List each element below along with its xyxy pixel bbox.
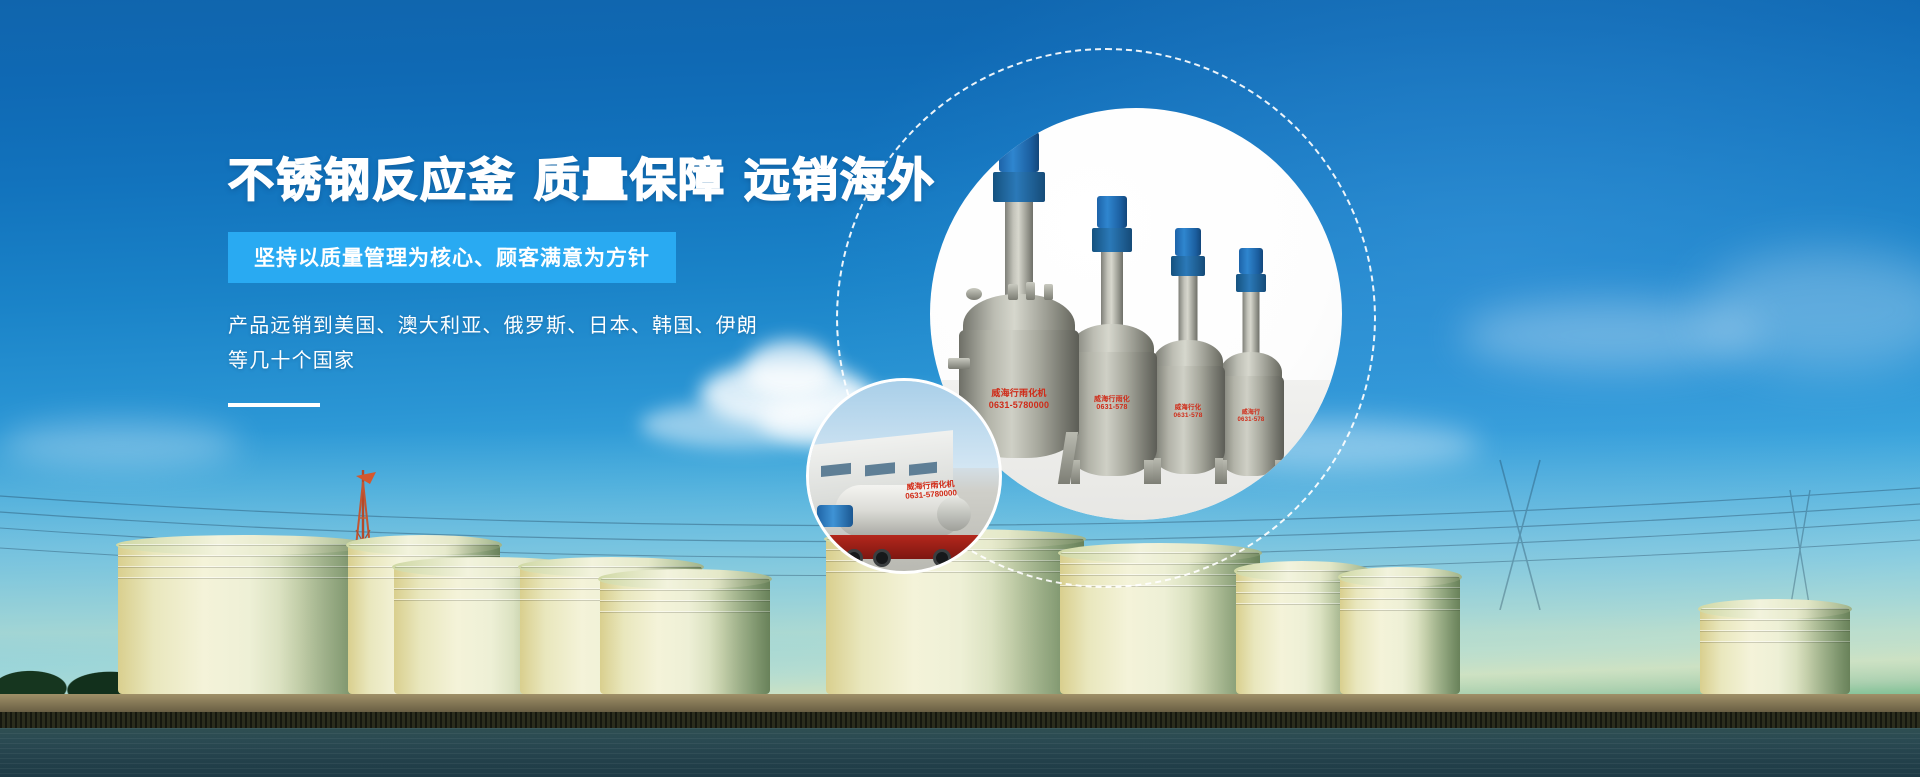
vessel-motor — [817, 505, 853, 527]
hero-banner: 威海行 0631-578 威海行化 0631-578 — [0, 0, 1920, 777]
trailer-wheel — [933, 549, 951, 567]
trailer-wheel — [961, 549, 979, 567]
reactor-brand-line2: 0631-578 — [1173, 412, 1202, 420]
banner-copy: 不锈钢反应釜 质量保障 远销海外 坚持以质量管理为核心、顾客满意为方针 产品远销… — [228, 155, 988, 407]
headline: 不锈钢反应釜 质量保障 远销海外 — [228, 155, 988, 206]
reactor-brand-line1: 威海行雨化 — [1094, 396, 1130, 404]
storage-tank — [1700, 608, 1850, 694]
description-line-2: 等几十个国家 — [228, 344, 988, 379]
reactor-brand-line2: 0631-578 — [1238, 417, 1265, 424]
divider-rule — [228, 403, 320, 407]
factory-image-circle: 威海行雨化机 0631-5780000 — [806, 378, 1002, 574]
storage-tank — [118, 544, 370, 694]
vessel-head — [937, 497, 971, 531]
storage-tank — [600, 578, 770, 694]
water — [0, 728, 1920, 777]
trailer-wheel — [873, 549, 891, 567]
subtitle-highlight-bar: 坚持以质量管理为核心、顾客满意为方针 — [228, 232, 676, 283]
description-line-1: 产品远销到美国、澳大利亚、俄罗斯、日本、韩国、伊朗 — [228, 309, 988, 344]
description: 产品远销到美国、澳大利亚、俄罗斯、日本、韩国、伊朗 等几十个国家 — [228, 309, 988, 379]
trailer-wheel — [845, 549, 863, 567]
reactor-brand-line2: 0631-578 — [1094, 404, 1130, 412]
factory-brand-text: 威海行雨化机 0631-5780000 — [904, 479, 957, 501]
reactor-brand-line1: 威海行化 — [1173, 404, 1202, 412]
reactor-brand-line1: 威海行 — [1238, 410, 1265, 417]
storage-tank — [1340, 576, 1460, 694]
